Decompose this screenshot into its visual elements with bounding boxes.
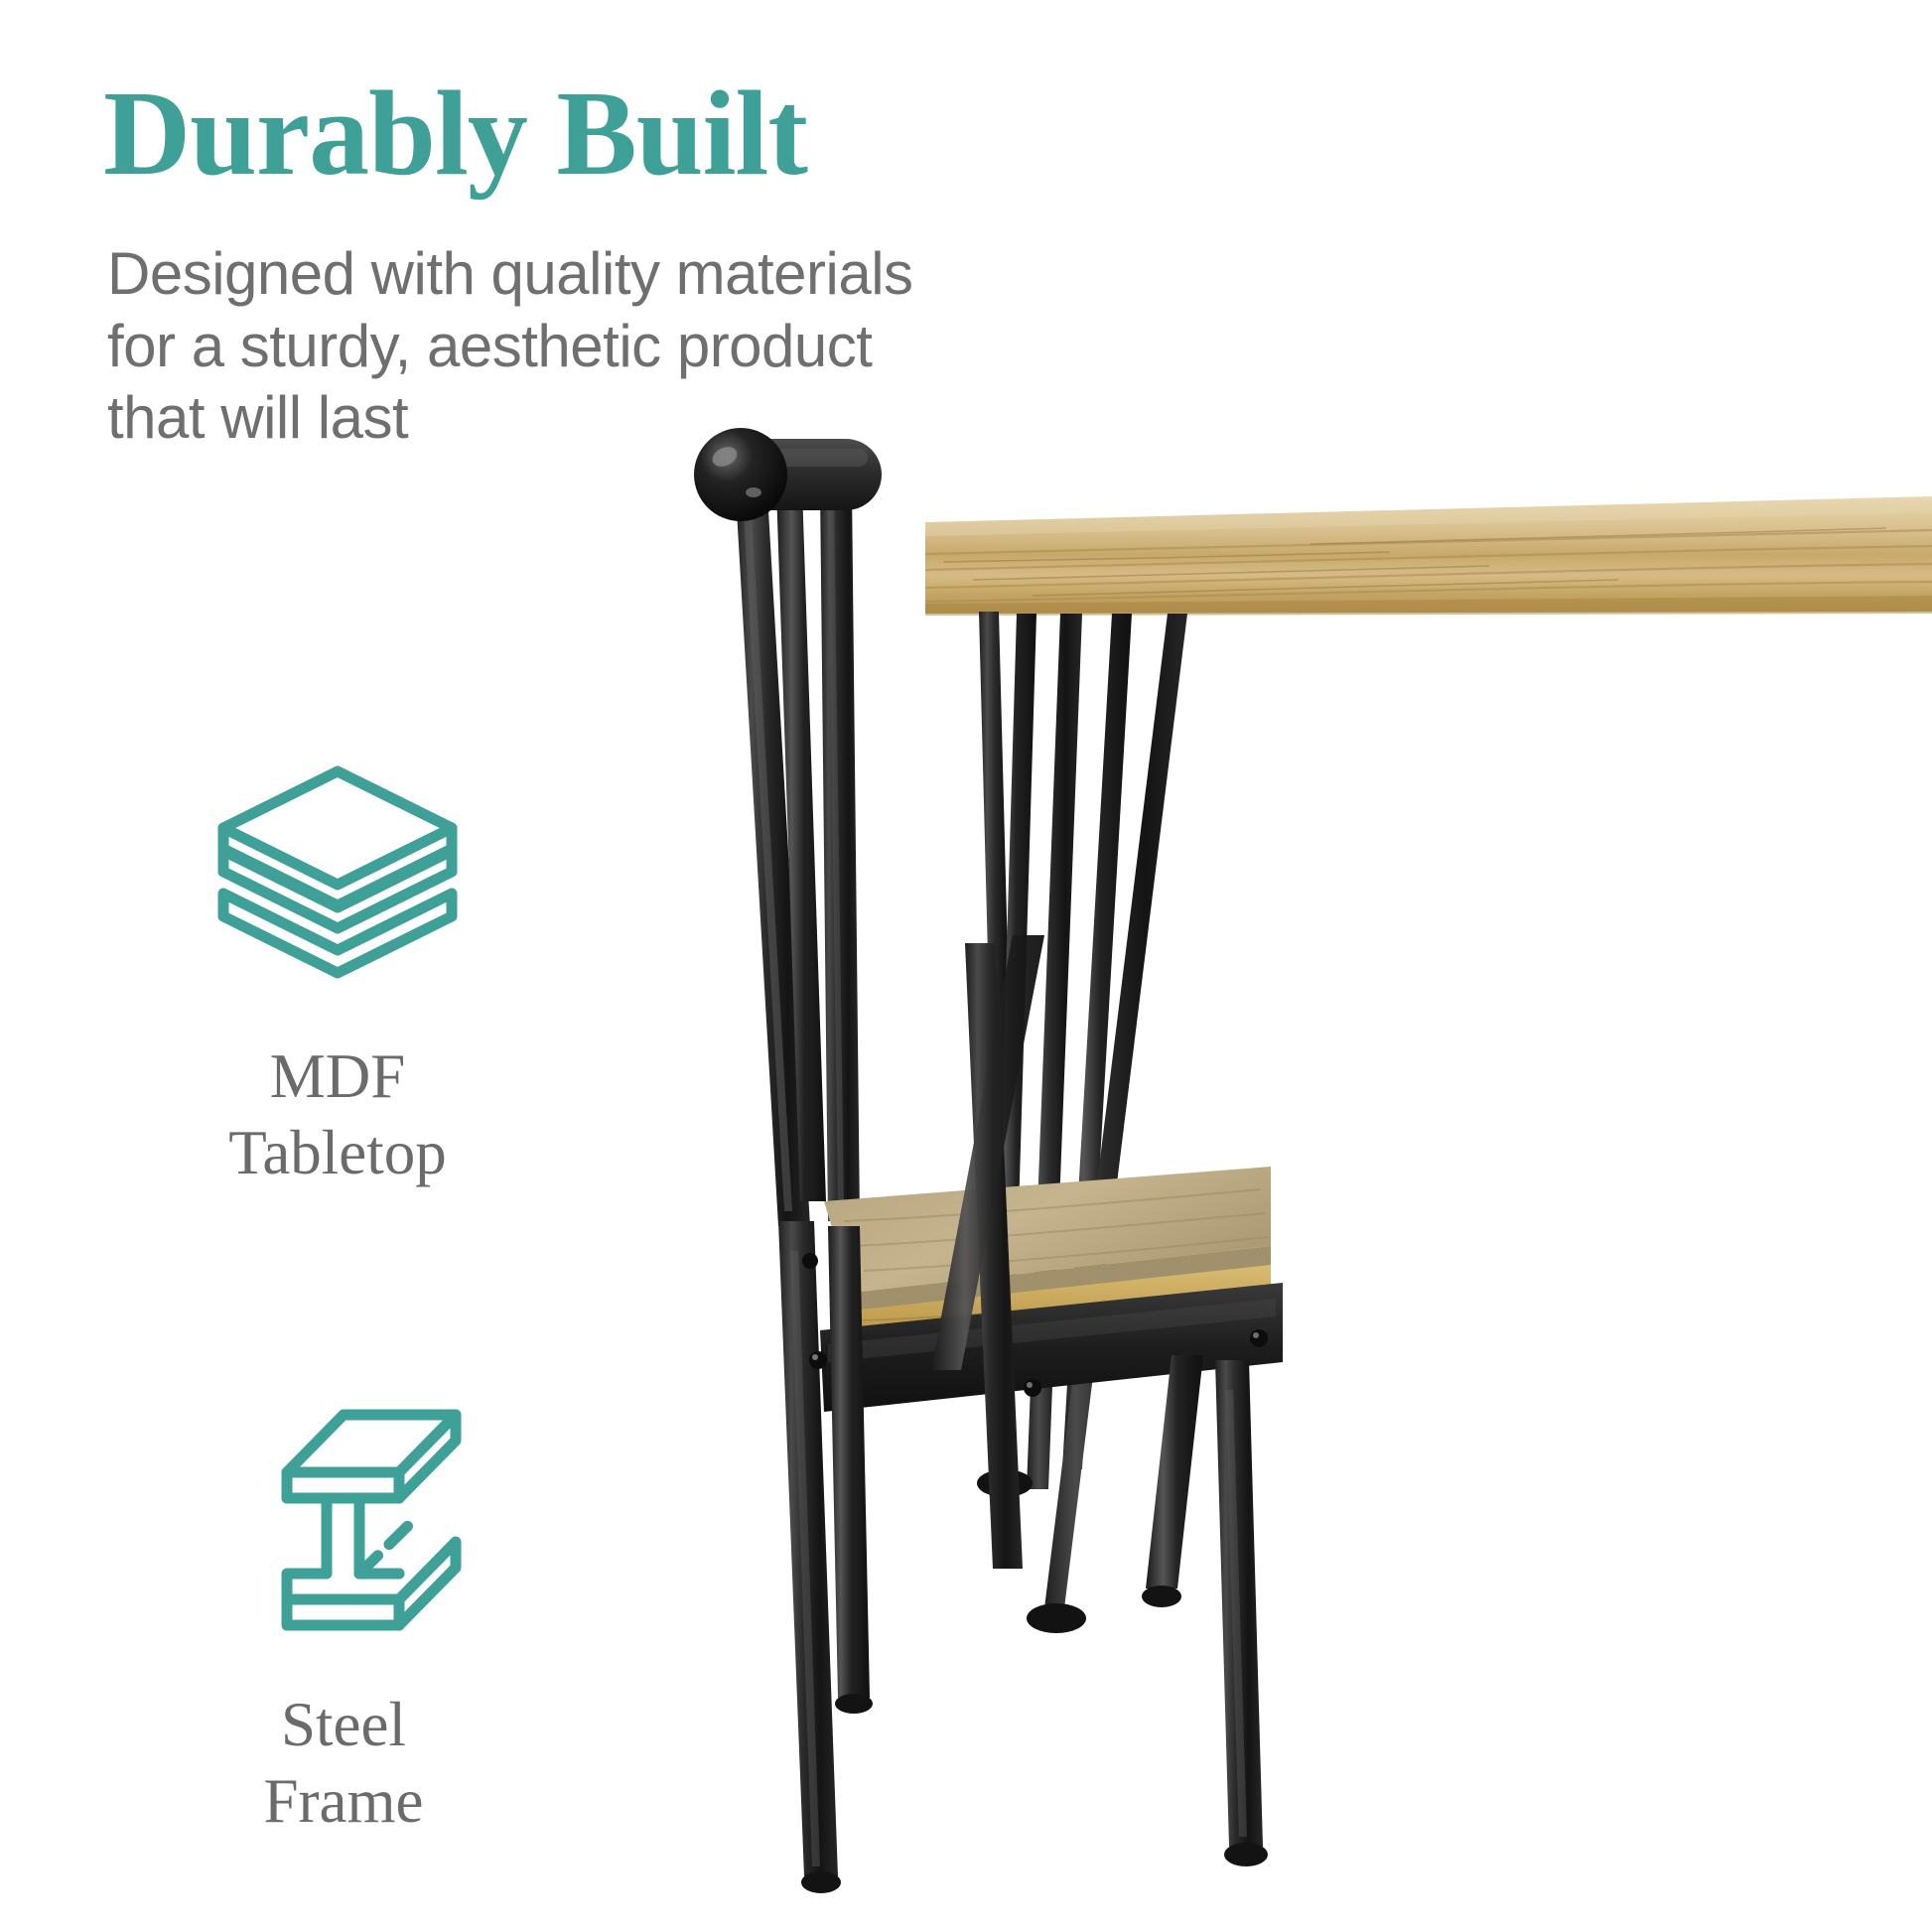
feature-label-steel: Steel Frame [135,1687,552,1840]
feature-label-line-2: Frame [135,1763,552,1840]
chair-front-legs [1142,1355,1268,1866]
marketing-banner: Durably Built Designed with quality mate… [0,0,1932,1932]
feature-label-mdf: MDF Tabletop [129,1038,546,1191]
feature-label-line-1: MDF [129,1038,546,1115]
feature-steel-frame: Steel Frame [135,1405,552,1840]
page-title: Durably Built [103,72,807,196]
chair-rear-legs [778,1221,873,1893]
product-photo [616,328,1932,1932]
stacked-layers-icon [129,755,546,1003]
feature-label-line-1: Steel [135,1687,552,1763]
table-top [925,496,1932,616]
chair-back-spindles [735,477,860,1226]
feature-label-line-2: Tabletop [129,1115,546,1191]
steel-i-beam-icon [135,1405,552,1643]
subtitle-line-1: Designed with quality materials [107,238,1100,311]
chair-finial-knob [694,428,787,521]
feature-mdf-tabletop: MDF Tabletop [129,755,546,1191]
